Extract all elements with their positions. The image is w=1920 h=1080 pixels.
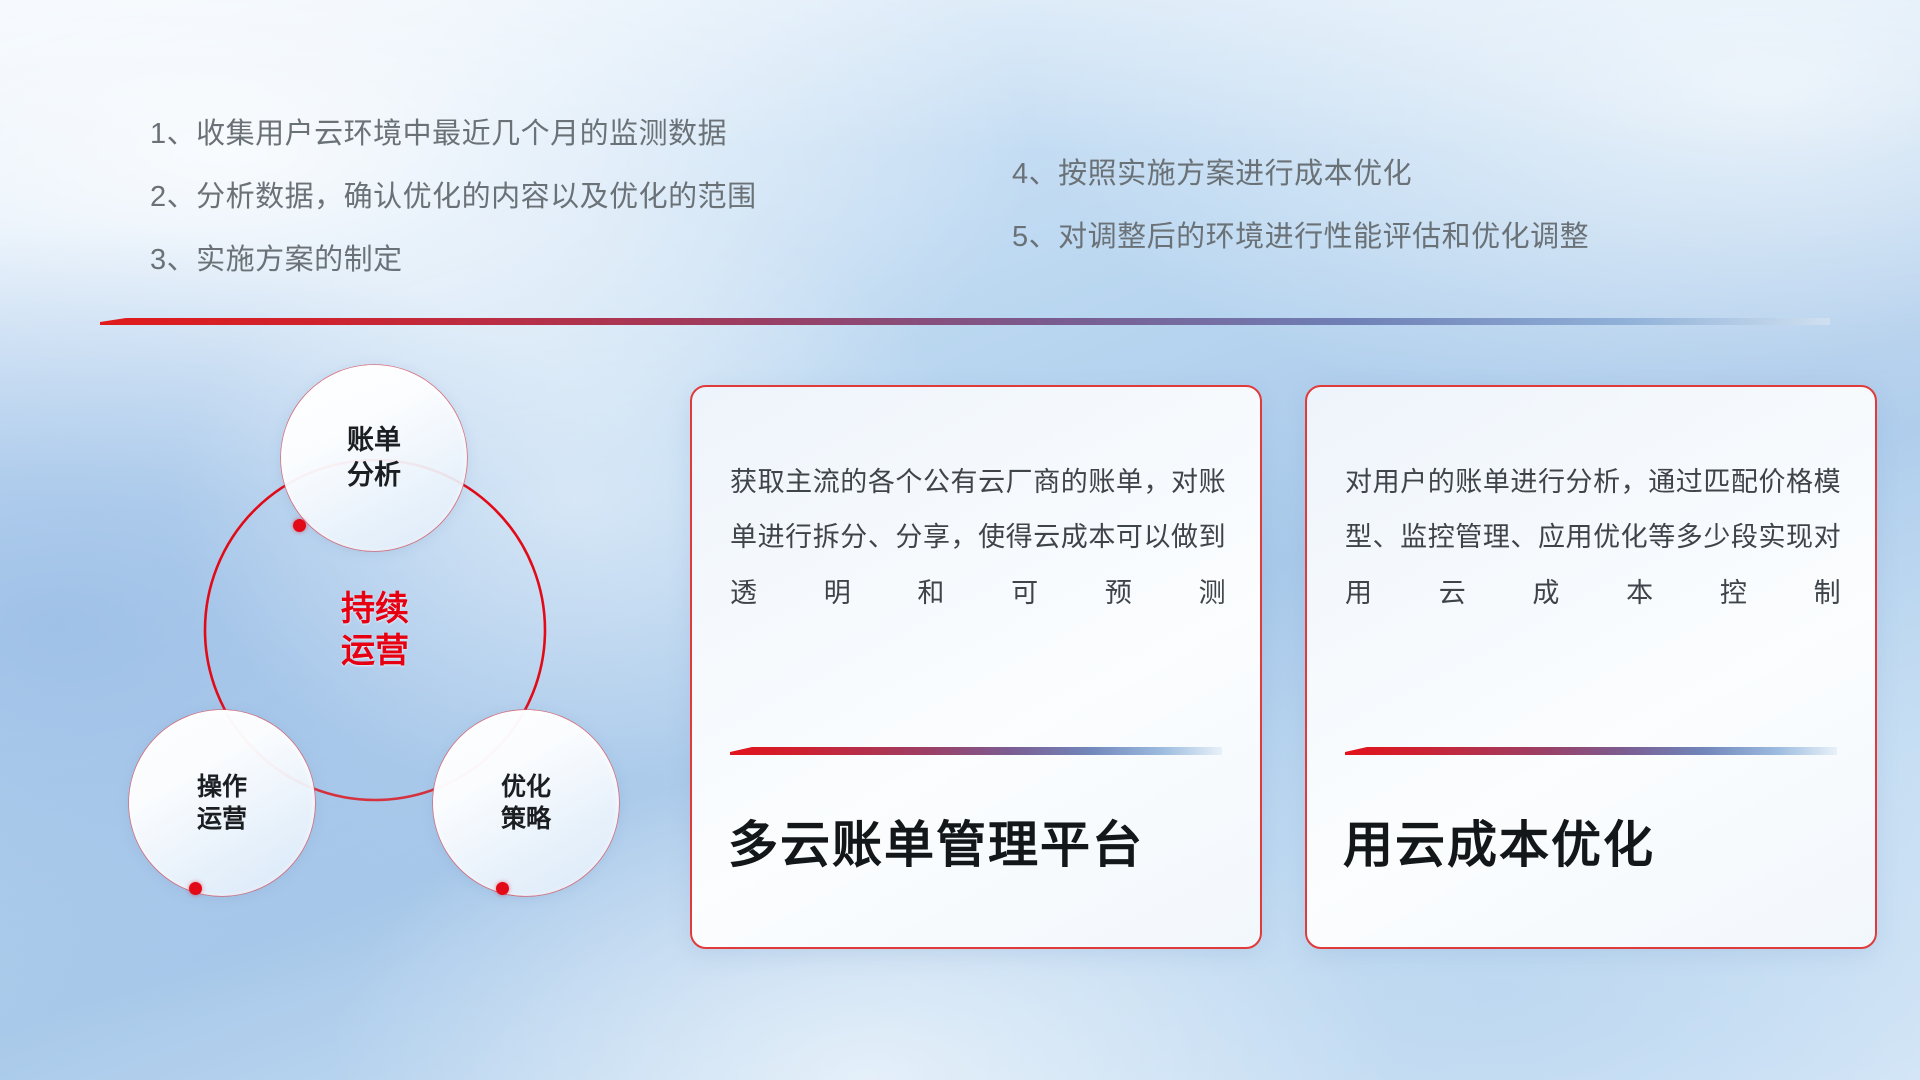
venn-center-label: 持续 运营 — [280, 535, 470, 725]
card-gradient-divider — [730, 747, 1222, 755]
feature-card-cloud-cost-optimization[interactable]: 对用户的账单进行分析，通过匹配价格模型、监控管理、应用优化等多少段实现对用云成本… — [1305, 385, 1877, 949]
card-body-text: 对用户的账单进行分析，通过匹配价格模型、监控管理、应用优化等多少段实现对用云成本… — [1345, 455, 1841, 621]
steps-list-left: 1、收集用户云环境中最近几个月的监测数据 2、分析数据，确认优化的内容以及优化的… — [150, 120, 757, 275]
venn-diagram: 账单 分析 操作 运营 优化 策略 持续 运营 — [95, 355, 640, 955]
step-item: 4、按照实施方案进行成本优化 — [1012, 160, 1589, 189]
step-item: 1、收集用户云环境中最近几个月的监测数据 — [150, 120, 757, 149]
venn-circle-label-line2: 分析 — [347, 458, 401, 493]
venn-node-dot-bottom-left — [189, 882, 202, 895]
step-item: 2、分析数据，确认优化的内容以及优化的范围 — [150, 183, 757, 212]
venn-circle-operations[interactable]: 操作 运营 — [129, 710, 315, 896]
step-item: 3、实施方案的制定 — [150, 246, 757, 275]
card-title: 多云账单管理平台 — [728, 805, 1144, 877]
steps-list-right: 4、按照实施方案进行成本优化 5、对调整后的环境进行性能评估和优化调整 — [1012, 160, 1589, 252]
venn-circle-bill-analysis[interactable]: 账单 分析 — [281, 365, 467, 551]
venn-circle-label-line2: 运营 — [197, 803, 247, 835]
header-gradient-divider — [100, 318, 1830, 325]
card-gradient-divider — [1345, 747, 1837, 755]
venn-circle-label-line1: 优化 — [501, 771, 551, 803]
venn-center-label-line2: 运营 — [341, 630, 409, 673]
venn-circle-optimization-strategy[interactable]: 优化 策略 — [433, 710, 619, 896]
venn-circle-label-line2: 策略 — [501, 803, 551, 835]
card-title: 用云成本优化 — [1343, 805, 1655, 877]
card-body-text: 获取主流的各个公有云厂商的账单，对账单进行拆分、分享，使得云成本可以做到透明和可… — [730, 455, 1226, 621]
venn-circle-label-line1: 操作 — [197, 771, 247, 803]
venn-center-label-line1: 持续 — [341, 588, 409, 631]
venn-circle-label-line1: 账单 — [347, 423, 401, 458]
venn-node-dot-top — [293, 519, 306, 532]
step-item: 5、对调整后的环境进行性能评估和优化调整 — [1012, 223, 1589, 252]
venn-node-dot-bottom-right — [496, 882, 509, 895]
feature-card-multicloud-billing[interactable]: 获取主流的各个公有云厂商的账单，对账单进行拆分、分享，使得云成本可以做到透明和可… — [690, 385, 1262, 949]
